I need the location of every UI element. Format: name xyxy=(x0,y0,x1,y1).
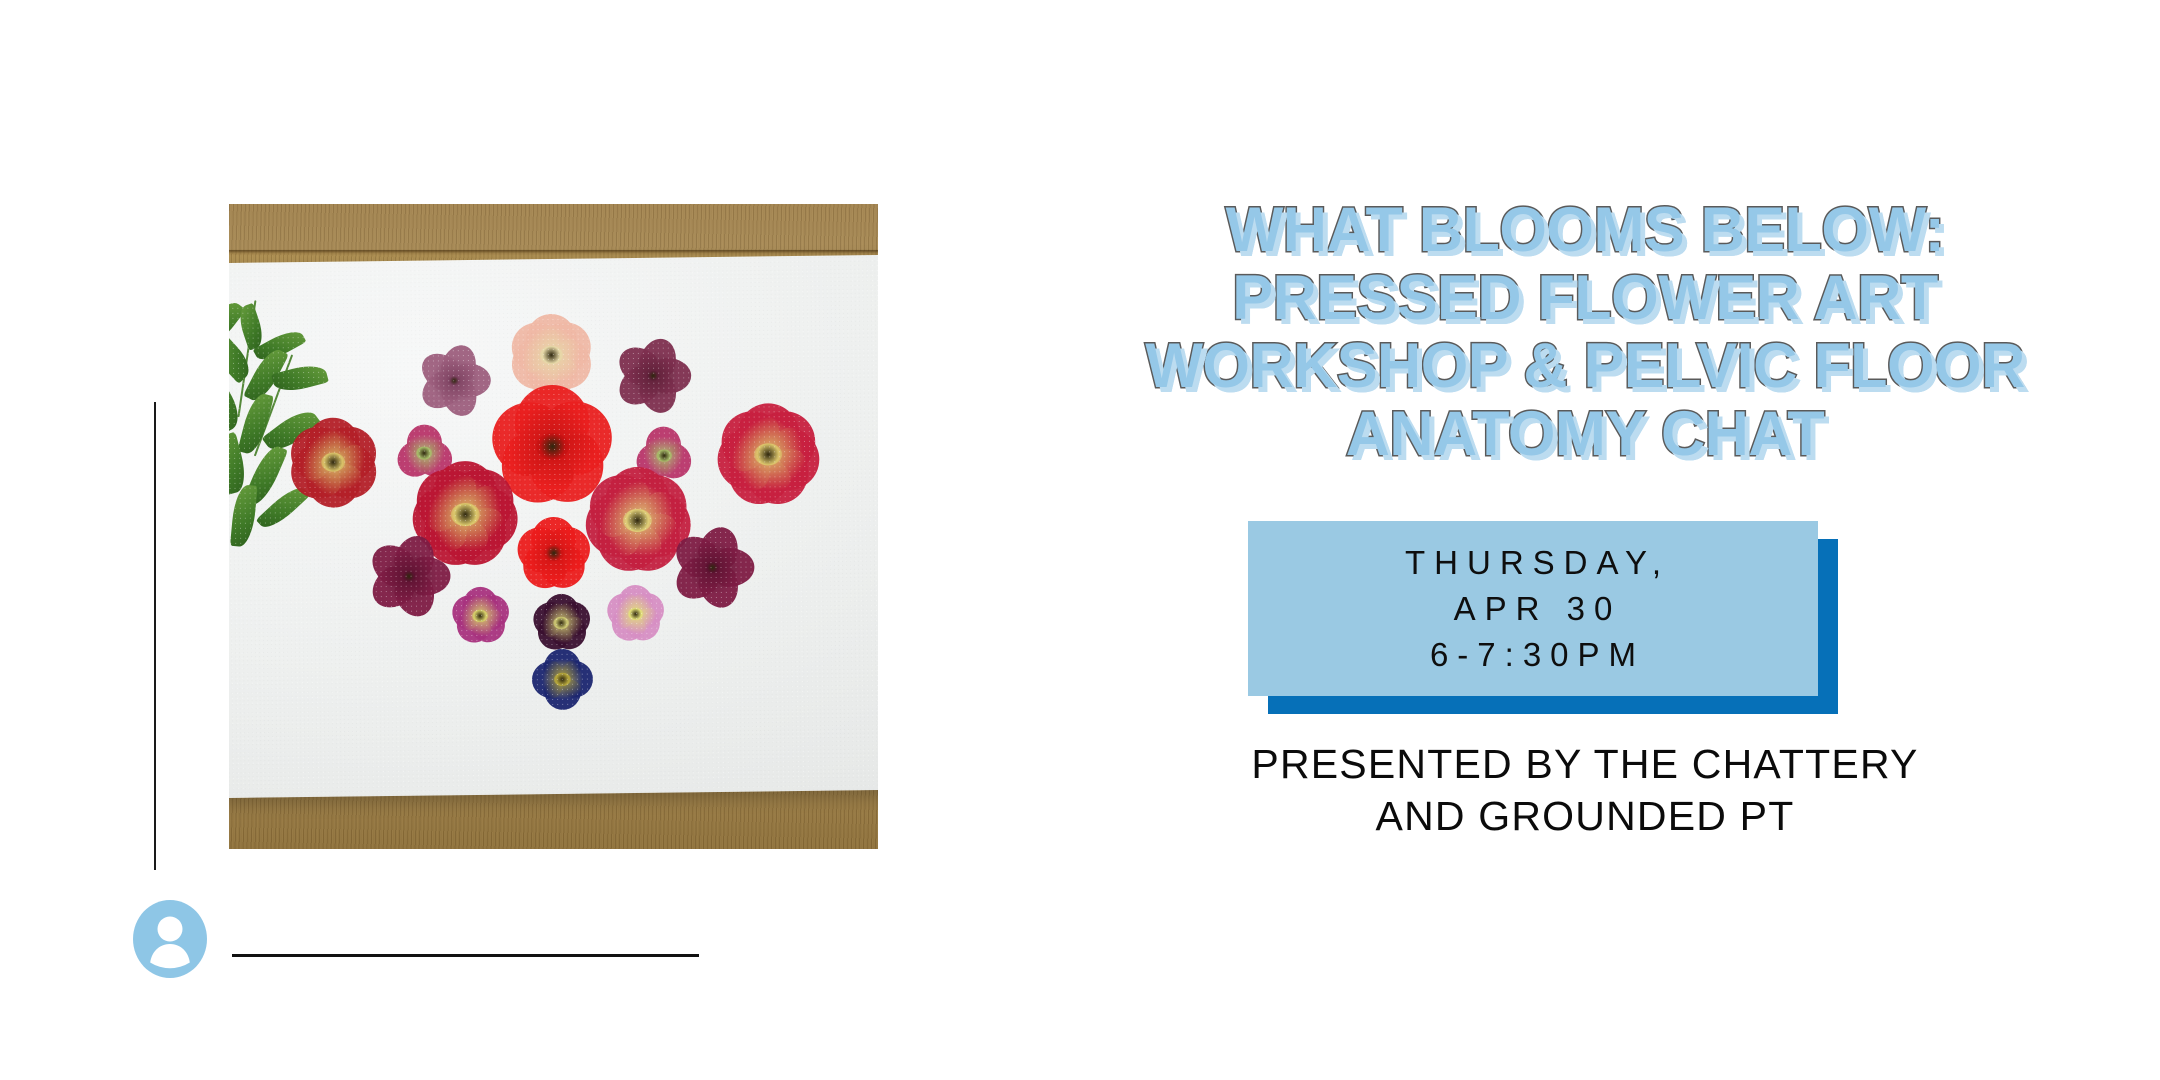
date-day: THURSDAY, xyxy=(1396,540,1670,586)
date-time: 6-7:30PM xyxy=(1421,632,1645,678)
flower-petal xyxy=(536,540,594,597)
flower-center xyxy=(544,546,564,562)
flower-petal xyxy=(487,425,583,518)
flower-petal xyxy=(630,441,673,486)
flower-petal xyxy=(612,362,664,413)
flower-petal xyxy=(621,604,667,648)
flower-petal xyxy=(447,591,485,633)
green-leaf-sprig xyxy=(229,293,426,553)
flower-petal xyxy=(709,399,788,480)
flower-petal xyxy=(390,532,439,583)
flower-petal xyxy=(525,314,576,356)
flower-petal xyxy=(531,661,562,699)
flower-center xyxy=(623,509,652,532)
pressed-flower xyxy=(614,345,692,408)
flower-petal xyxy=(737,403,800,455)
flower-petal xyxy=(694,562,744,614)
flower-petal xyxy=(741,441,820,515)
flower-petal xyxy=(462,587,498,616)
title-line-3: WORKSHOP & PELVIC FLOOR xyxy=(1047,332,2124,400)
flower-petal xyxy=(433,461,498,515)
flower-petal xyxy=(543,649,581,680)
right-panel: WHAT BLOOMS BELOW: PRESSED FLOWER ART WO… xyxy=(1000,0,2160,1080)
flower-petal xyxy=(515,385,590,447)
flower-petal xyxy=(320,439,386,509)
presenter-line-1: PRESENTED BY THE CHATTERY xyxy=(1030,738,2140,790)
pressed-flower-photo xyxy=(229,204,878,849)
pressed-flower xyxy=(582,476,694,566)
flower-center xyxy=(540,347,563,365)
flower-petal xyxy=(605,467,670,521)
pressed-flower xyxy=(366,543,451,611)
date-date: APR 30 xyxy=(1445,586,1622,632)
flower-center xyxy=(472,610,488,623)
bottom-horizontal-rule xyxy=(232,954,699,957)
flower-center xyxy=(628,608,644,621)
flower-petal xyxy=(556,597,595,640)
flower-petal xyxy=(466,606,512,650)
flower-petal xyxy=(391,439,434,484)
flower-petal xyxy=(631,489,696,563)
vertical-divider-rule xyxy=(154,402,156,870)
flower-petal xyxy=(437,500,518,576)
pressed-flower xyxy=(488,395,617,498)
flower-petal xyxy=(653,358,692,394)
flower-petal xyxy=(579,489,646,564)
flower-center xyxy=(754,444,782,467)
flower-petal xyxy=(531,517,576,554)
flower-center xyxy=(416,447,432,460)
flower-petal xyxy=(454,364,491,399)
flower-petal xyxy=(603,589,641,631)
pressed-flower xyxy=(507,321,596,392)
wood-plank-seam xyxy=(229,250,878,253)
pressed-flower xyxy=(670,534,755,602)
flower-petal xyxy=(611,339,663,390)
pressed-flower xyxy=(394,429,455,478)
flower-petal xyxy=(543,594,579,623)
flower-petal xyxy=(547,613,593,657)
flower-petal xyxy=(483,393,563,482)
pressed-flower xyxy=(714,411,823,498)
flower-center xyxy=(554,673,571,686)
flower-petal xyxy=(409,557,451,596)
flower-petal xyxy=(503,334,565,399)
flower-petal xyxy=(668,528,724,584)
pressed-flower xyxy=(531,599,592,648)
flower-petal xyxy=(655,441,697,486)
pressed-flower xyxy=(416,351,491,411)
flower-petal xyxy=(609,506,690,582)
flower-center xyxy=(656,450,672,463)
flower-petal xyxy=(475,590,514,633)
date-box: THURSDAY, APR 30 6-7:30PM xyxy=(1248,521,1818,696)
flower-petal xyxy=(636,370,682,418)
flower-petal xyxy=(503,313,564,378)
title-line-4: ANATOMY CHAT xyxy=(1047,400,2124,468)
flower-petal xyxy=(646,427,682,456)
event-date-block: THURSDAY, APR 30 6-7:30PM xyxy=(1248,521,1818,696)
flower-petal xyxy=(604,604,649,648)
flower-petal xyxy=(526,356,577,398)
flower-petal xyxy=(414,501,495,576)
pressed-flower xyxy=(633,432,694,481)
flower-center xyxy=(448,376,460,386)
flower-petal xyxy=(416,438,458,483)
flower-center xyxy=(706,563,720,574)
flower-petal xyxy=(562,661,593,699)
flower-petal xyxy=(306,463,361,509)
flower-petal xyxy=(618,585,654,614)
person-avatar-icon xyxy=(133,900,207,978)
flower-petal xyxy=(539,334,600,399)
flower-center xyxy=(321,453,346,473)
flower-petal xyxy=(668,552,724,608)
title-line-2: PRESSED FLOWER ART xyxy=(1047,264,2124,332)
flower-petal xyxy=(636,334,681,381)
event-title: WHAT BLOOMS BELOW: PRESSED FLOWER ART WO… xyxy=(1047,196,2124,468)
flower-petal xyxy=(514,541,572,597)
flower-petal xyxy=(762,424,825,496)
flower-petal xyxy=(445,456,527,540)
flower-petal xyxy=(749,398,828,479)
left-panel xyxy=(0,0,1000,1080)
flower-petal xyxy=(459,483,524,557)
flower-petal xyxy=(404,457,485,541)
flower-petal xyxy=(544,679,582,710)
pressed-flower xyxy=(515,523,593,586)
presenter-line-2: AND GROUNDED PT xyxy=(1030,790,2140,842)
white-paper-sheet xyxy=(229,255,878,799)
flower-petal xyxy=(438,376,482,422)
presenter-credit: PRESENTED BY THE CHATTERY AND GROUNDED P… xyxy=(1030,738,2140,842)
flower-petal xyxy=(630,589,669,632)
flower-petal xyxy=(711,424,776,497)
title-line-1: WHAT BLOOMS BELOW: xyxy=(1047,196,2124,264)
pressed-flower xyxy=(450,592,511,641)
flower-petal xyxy=(406,425,442,454)
flower-petal xyxy=(364,537,420,593)
flower-petal xyxy=(719,442,797,515)
flower-petal xyxy=(364,562,420,618)
flower-petal xyxy=(712,548,754,587)
flower-petal xyxy=(576,463,657,547)
flower-petal xyxy=(538,313,600,378)
flower-petal xyxy=(694,523,743,574)
flower-petal xyxy=(391,571,441,623)
flower-petal xyxy=(547,521,596,575)
flower-petal xyxy=(305,418,360,464)
flower-petal xyxy=(541,392,623,482)
pressed-flower xyxy=(605,590,666,639)
flower-center xyxy=(553,617,569,630)
flower-center xyxy=(402,572,416,583)
pressed-flower xyxy=(530,654,595,706)
flower-petal xyxy=(414,346,464,395)
flower-center xyxy=(536,433,570,460)
flower-petal xyxy=(449,606,494,650)
flower-petal xyxy=(617,462,699,546)
flower-petal xyxy=(414,367,464,416)
flower-center xyxy=(647,371,660,381)
flower-petal xyxy=(438,341,481,386)
flower-petal xyxy=(586,507,667,582)
flower-petal xyxy=(529,598,567,640)
pressed-flower xyxy=(286,425,381,501)
flower-petal xyxy=(512,521,561,575)
flower-petal xyxy=(407,483,474,558)
flower-petal xyxy=(319,416,386,486)
flower-petal xyxy=(523,425,619,518)
flower-petal xyxy=(281,417,347,487)
flower-center xyxy=(451,503,480,526)
flower-petal xyxy=(530,613,575,657)
pressed-flower xyxy=(409,470,521,560)
flower-petal xyxy=(281,439,348,509)
